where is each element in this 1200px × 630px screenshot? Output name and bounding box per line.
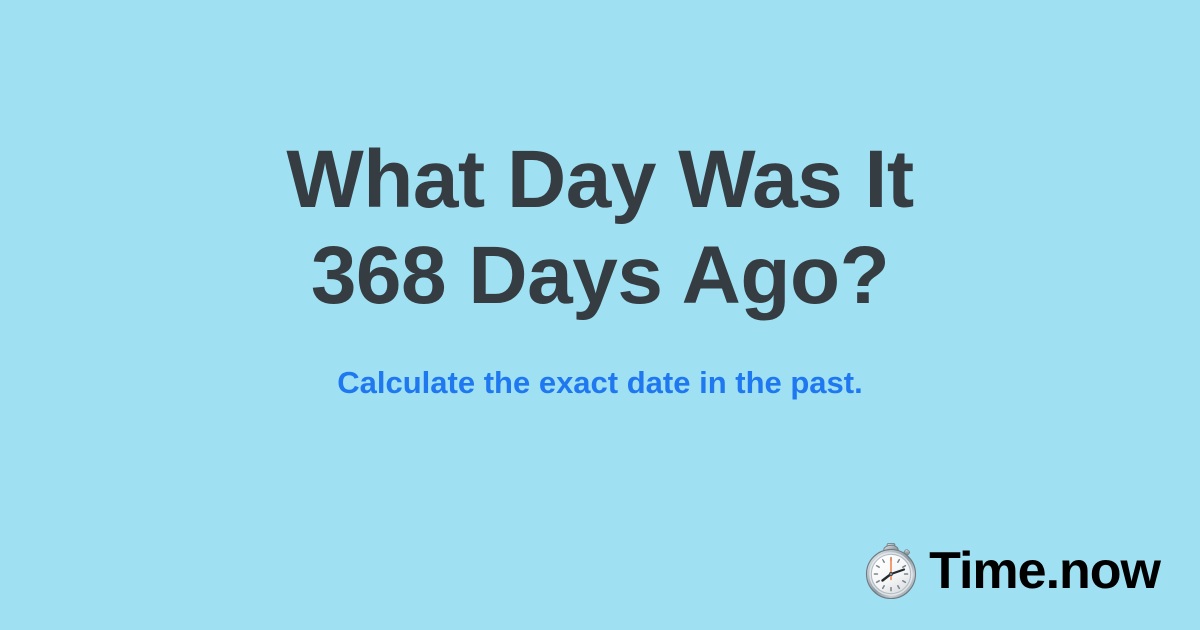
page-title-line-2: 368 Days Ago? bbox=[0, 228, 1200, 324]
page-title-line-1: What Day Was It bbox=[0, 132, 1200, 228]
page-title: What Day Was It 368 Days Ago? bbox=[0, 132, 1200, 324]
stopwatch-icon bbox=[862, 542, 920, 600]
page-subtitle: Calculate the exact date in the past. bbox=[0, 366, 1200, 400]
hero-text-block: What Day Was It 368 Days Ago? Calculate … bbox=[0, 132, 1200, 400]
brand-name-label: Time.now bbox=[929, 545, 1160, 597]
brand-logo[interactable]: Time.now bbox=[862, 542, 1160, 600]
social-card: What Day Was It 368 Days Ago? Calculate … bbox=[0, 0, 1200, 630]
